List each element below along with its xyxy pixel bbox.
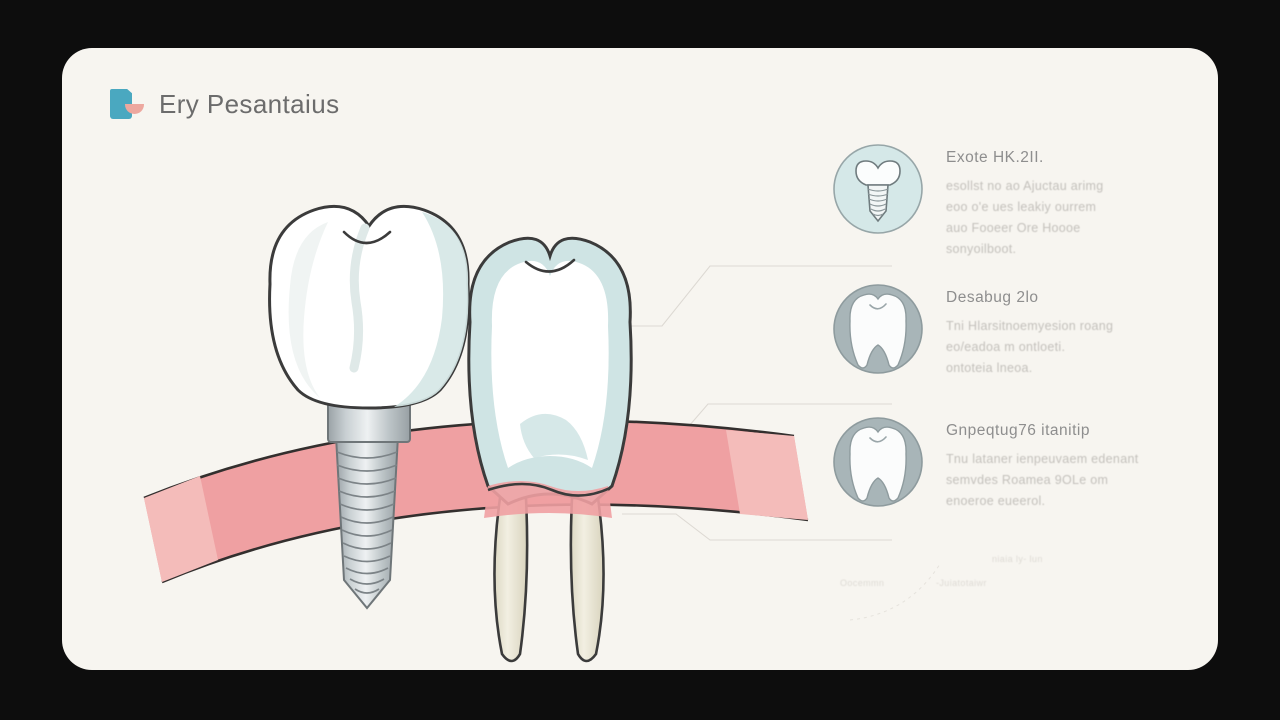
natural-molar <box>469 238 631 661</box>
list-item-body-line: esollst no ao Ajuctau arimg <box>946 176 1104 197</box>
list-item-body-line: semvdes Roamea 9OLe om <box>946 470 1138 491</box>
footer-label: -Juiatotaiwr <box>936 578 987 588</box>
list-item-body-line: eo/eadoa m ontloeti. <box>946 337 1113 358</box>
implant-crown <box>270 206 469 408</box>
list-item[interactable]: Exote HK.2II. esollst no ao Ajuctau arim… <box>832 143 1182 260</box>
list-item-body-line: Tnu lataner ienpeuvaem edenant <box>946 449 1138 470</box>
list-item-heading: Desabug 2lo <box>946 289 1113 307</box>
screenshot-root: Ery Pesantaius <box>0 0 1280 720</box>
list-item-heading: Gnpeqtug76 itanitip <box>946 422 1138 440</box>
footer-annotations: Oocemmn -Juiatotaiwr niaia ly- lun <box>832 536 1162 606</box>
tooth-roots <box>494 498 603 661</box>
list-item-body-line: sonyoilboot. <box>946 239 1104 260</box>
list-item-body-line: enoeroe eueerol. <box>946 491 1138 512</box>
list-item-body-line: Tni Hlarsitnoemyesion roang <box>946 316 1113 337</box>
list-item-body-line: ontoteia lneoa. <box>946 358 1113 379</box>
tooth-icon <box>832 283 924 375</box>
tooth-icon <box>832 416 924 508</box>
footer-label: niaia ly- lun <box>992 554 1043 564</box>
list-item[interactable]: Gnpeqtug76 itanitip Tnu lataner ienpeuva… <box>832 416 1182 512</box>
page-title: Ery Pesantaius <box>159 89 339 120</box>
list-item-heading: Exote HK.2II. <box>946 149 1104 167</box>
list-item-text: Desabug 2lo Tni Hlarsitnoemyesion roang … <box>946 283 1113 379</box>
implant-screw-icon <box>832 143 924 235</box>
brand-header: Ery Pesantaius <box>107 86 339 122</box>
dental-diagram <box>122 168 842 668</box>
list-item-body-line: auo Fooeer Ore Hoooe <box>946 218 1104 239</box>
list-item-body-line: eoo o'e ues leakiy ourrem <box>946 197 1104 218</box>
implant-assembly <box>270 206 469 608</box>
footer-label: Oocemmn <box>840 578 884 588</box>
list-item[interactable]: Desabug 2lo Tni Hlarsitnoemyesion roang … <box>832 283 1182 379</box>
implant-screw <box>336 436 398 608</box>
list-item-text: Gnpeqtug76 itanitip Tnu lataner ienpeuva… <box>946 416 1138 512</box>
list-item-text: Exote HK.2II. esollst no ao Ajuctau arim… <box>946 143 1104 260</box>
infographic-card: Ery Pesantaius <box>62 48 1218 670</box>
brand-logo-icon <box>107 86 145 122</box>
